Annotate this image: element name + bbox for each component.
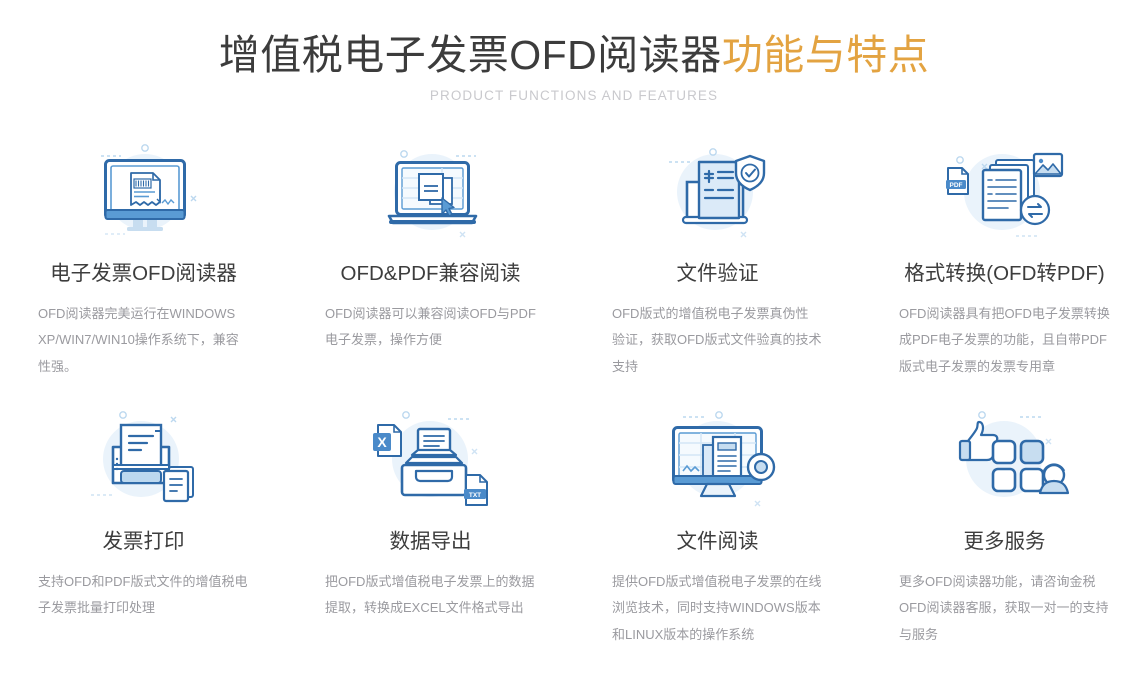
page-header: 增值税电子发票OFD阅读器功能与特点 PRODUCT FUNCTIONS AND… [0, 0, 1148, 103]
page-root: 增值税电子发票OFD阅读器功能与特点 PRODUCT FUNCTIONS AND… [0, 0, 1148, 682]
feature-card-title: 更多服务 [964, 530, 1046, 555]
feature-card-desc: OFD阅读器具有把OFD电子发票转换成PDF电子发票的功能，且自带PDF版式电子… [899, 301, 1110, 381]
feature-card-title: 电子发票OFD阅读器 [50, 262, 237, 287]
feature-card-7[interactable]: 文件阅读 提供OFD版式增值税电子发票的在线浏览技术，同时支持WINDOWS版本… [574, 410, 861, 672]
feature-card-title: 格式转换(OFD转PDF) [904, 262, 1104, 287]
feature-card-3[interactable]: 文件验证 OFD版式的增值税电子发票真伪性 验证，获取OFD版式文件验真的技术支… [574, 140, 861, 410]
feature-card-title: OFD&PDF兼容阅读 [341, 262, 521, 287]
feature-card-desc: OFD阅读器完美运行在WINDOWS XP/WIN7/WIN10操作系统下，兼容… [38, 301, 249, 381]
feature-card-desc: OFD阅读器可以兼容阅读OFD与PDF电子发票，操作方便 [325, 301, 536, 354]
feature-card-2[interactable]: OFD&PDF兼容阅读 OFD阅读器可以兼容阅读OFD与PDF电子发票，操作方便 [287, 140, 574, 410]
page-title-main: 增值税电子发票OFD阅读器 [219, 32, 722, 78]
feature-card-desc: 更多OFD阅读器功能，请咨询金税OFD阅读器客服，获取一对一的支持与服务 [899, 569, 1110, 649]
page-subtitle: PRODUCT FUNCTIONS AND FEATURES [0, 88, 1148, 103]
svg-text:PDF: PDF [949, 182, 962, 189]
svg-text:TXT: TXT [468, 492, 480, 499]
svg-text:X: X [377, 434, 387, 450]
feature-card-desc: OFD版式的增值税电子发票真伪性 验证，获取OFD版式文件验真的技术支持 [612, 301, 823, 381]
feature-card-desc: 把OFD版式增值税电子发票上的数据提取，转换成EXCEL文件格式导出 [325, 569, 536, 622]
feature-card-title: 数据导出 [390, 530, 472, 555]
invoice-shield-verify-icon [643, 140, 793, 250]
document-convert-pdf-icon: PDF [930, 140, 1080, 250]
page-title-accent: 功能与特点 [722, 32, 930, 78]
feature-card-title: 文件验证 [677, 262, 759, 287]
feature-card-4[interactable]: PDF 格式转换(OFD转PDF) OFD阅读器具有把OFD电子发票转换成PDF… [861, 140, 1148, 410]
feature-card-1[interactable]: 电子发票OFD阅读器 OFD阅读器完美运行在WINDOWS XP/WIN7/WI… [0, 140, 287, 410]
feature-card-desc: 支持OFD和PDF版式文件的增值税电子发票批量打印处理 [38, 569, 249, 622]
feature-card-desc: 提供OFD版式增值税电子发票的在线浏览技术，同时支持WINDOWS版本和LINU… [612, 569, 823, 649]
data-export-excel-icon: X TXT [356, 410, 506, 518]
feature-grid: 电子发票OFD阅读器 OFD阅读器完美运行在WINDOWS XP/WIN7/WI… [0, 140, 1148, 672]
feature-card-8[interactable]: 更多服务 更多OFD阅读器功能，请咨询金税OFD阅读器客服，获取一对一的支持与服… [861, 410, 1148, 672]
printer-invoice-icon [69, 410, 219, 518]
feature-card-title: 发票打印 [103, 530, 185, 555]
laptop-document-cursor-icon [356, 140, 506, 250]
page-title: 增值税电子发票OFD阅读器功能与特点 [0, 32, 1148, 79]
feature-card-6[interactable]: X TXT 数据导出 把OFD版式增值税电子发票上的数据提取，转换成EXCEL文… [287, 410, 574, 672]
desktop-invoice-icon [69, 140, 219, 250]
more-services-support-icon [930, 410, 1080, 518]
monitor-read-document-icon [643, 410, 793, 518]
feature-card-title: 文件阅读 [677, 530, 759, 555]
feature-card-5[interactable]: 发票打印 支持OFD和PDF版式文件的增值税电子发票批量打印处理 [0, 410, 287, 672]
